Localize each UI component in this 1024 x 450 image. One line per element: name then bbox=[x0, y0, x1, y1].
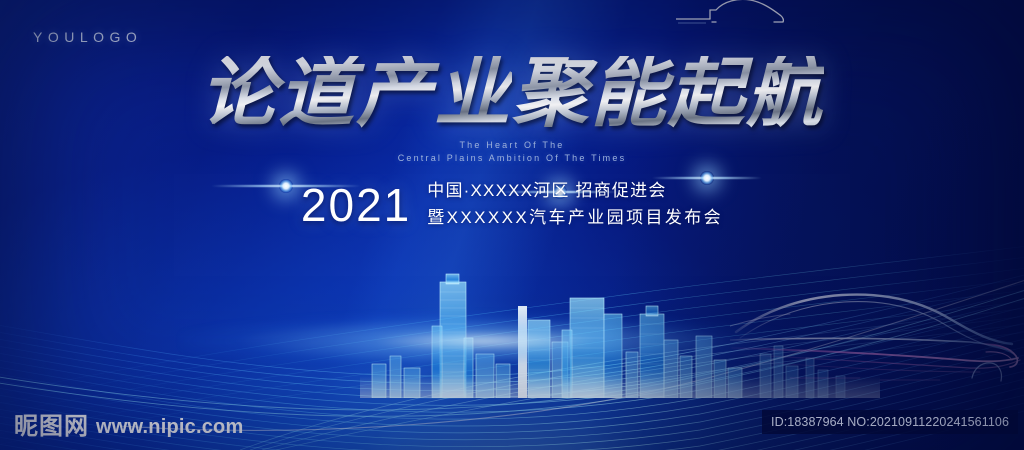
city-skyline-icon bbox=[0, 268, 1024, 398]
watermark-brand: 昵图网 bbox=[14, 414, 89, 438]
horizon-glow bbox=[180, 292, 904, 362]
event-info: 2021 中国·XXXXX河区 招商促进会 暨XXXXXX汽车产业园项目发布会 bbox=[0, 180, 1024, 229]
title-part-2: 聚能起航 bbox=[512, 56, 824, 132]
watermark-url: www.nipic.com bbox=[96, 417, 243, 438]
id-badge: ID:18387964 NO:20210911220241561106 bbox=[762, 410, 1018, 434]
car-wireframe-icon bbox=[730, 286, 1024, 396]
subtitle-english: The Heart Of The Central Plains Ambition… bbox=[0, 139, 1024, 165]
event-line-1: 中国·XXXXX河区 招商促进会 bbox=[427, 180, 723, 202]
event-year: 2021 bbox=[301, 182, 411, 228]
title-part-1: 论道产业 bbox=[200, 56, 512, 132]
event-text-block: 中国·XXXXX河区 招商促进会 暨XXXXXX汽车产业园项目发布会 bbox=[427, 180, 723, 229]
car-outline-icon bbox=[676, 0, 786, 31]
event-line-2: 暨XXXXXX汽车产业园项目发布会 bbox=[427, 207, 723, 229]
watermark: 昵图网 www.nipic.com bbox=[14, 414, 243, 438]
flare-streak bbox=[652, 177, 762, 179]
subtitle-line-1: The Heart Of The bbox=[0, 139, 1024, 152]
brand-logo[interactable]: YOULOGO bbox=[33, 29, 142, 45]
poster-canvas: YOULOGO 论道产业聚能起航 The Heart Of The Centra… bbox=[0, 0, 1024, 450]
main-title: 论道产业聚能起航 bbox=[0, 56, 1024, 132]
subtitle-line-2: Central Plains Ambition Of The Times bbox=[0, 152, 1024, 165]
